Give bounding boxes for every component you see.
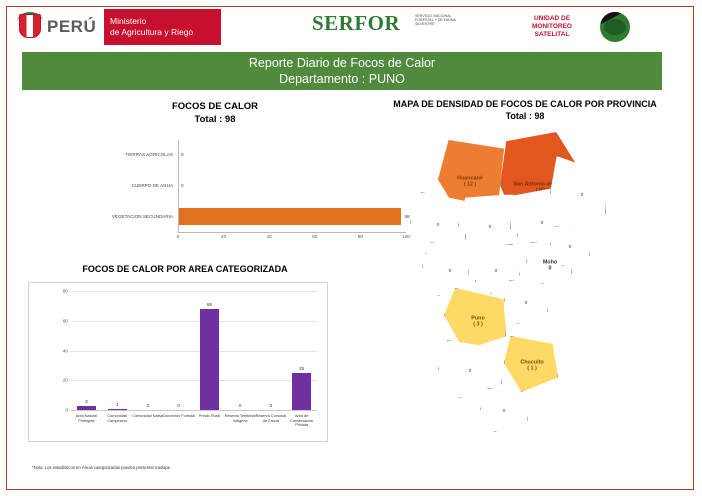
ministry-logo: Ministerio de Agricultura y Riego [104, 9, 221, 45]
map-province-value: 0 [503, 409, 506, 414]
chart2-category-label: Comunidad Campesina [100, 414, 134, 423]
map-province-label: 0 [489, 225, 492, 231]
chart2-y-tick: 60 [63, 318, 68, 323]
map-province-value: 0 [569, 245, 572, 250]
map-province-value: 0 [541, 221, 544, 226]
chart2-value-label: 1 [116, 402, 119, 407]
map-province-label: 0 [449, 269, 452, 275]
chart2-y-tick: 80 [63, 289, 68, 294]
chart2-value-label: 0 [147, 403, 150, 408]
serfor-wordmark: SERFOR [312, 11, 400, 35]
chart1-bar [178, 208, 401, 225]
chart2-gridline [71, 380, 317, 381]
report-subtitle: Departamento : PUNO [279, 71, 405, 87]
chart2-category-label: Area Natural Protegida [69, 414, 103, 423]
density-map: Huancané( 12 )San Antonio de Putina( 82 … [400, 130, 650, 460]
chart1-value-label: 0 [181, 183, 184, 188]
map-province-value: 0 [489, 225, 492, 230]
chart1-value-label: 0 [181, 152, 184, 157]
map-province-label: Puno( 3 ) [471, 316, 484, 327]
chart2-gridline [71, 351, 317, 352]
map-province-label: 0 [541, 221, 544, 227]
chart2-plot-area: 0204060803Area Natural Protegida1Comunid… [71, 291, 317, 410]
footnote: *Nota: Los estadísticos en Áreas categor… [32, 465, 170, 470]
peru-logo: PERÚ [17, 9, 105, 45]
serfor-tagline: SERVICIO NACIONAL FORESTAL Y DE FAUNA SI… [415, 14, 463, 27]
chart1-total: Total : 98 [105, 113, 325, 126]
map-province-value: 0 [549, 265, 552, 271]
chart1-category-label: TIERRAS AGRICOLAS [68, 152, 173, 157]
chart2-value-label: 0 [270, 403, 273, 408]
ministry-line-2: de Agricultura y Riego [110, 27, 221, 38]
chart2-value-label: 25 [299, 366, 304, 371]
globe-satellite-icon [600, 12, 630, 42]
map-province-value: 0 [581, 193, 584, 198]
map-province-label: 0 [437, 223, 440, 229]
chart1-title-block: FOCOS DE CALOR Total : 98 [105, 100, 325, 126]
chart-focos-de-calor: TIERRAS AGRICOLAS0CUERPO DE AGUA0VEGETAC… [62, 136, 347, 248]
chart2-gridline [71, 321, 317, 322]
chart1-plot-area: TIERRAS AGRICOLAS0CUERPO DE AGUA0VEGETAC… [178, 140, 406, 232]
map-province-value: 0 [469, 369, 472, 374]
map-province-value: ( 3 ) [473, 321, 483, 327]
chart2-y-tick: 20 [63, 378, 68, 383]
chart2-value-label: 68 [207, 302, 212, 307]
unit-line-2: MONITOREO [512, 23, 592, 31]
chart1-x-tick: 80 [358, 234, 363, 239]
unit-line-3: SATELITAL [512, 31, 592, 39]
chart2-category-label: Predio Rural [192, 414, 226, 419]
map-province-value: 0 [437, 223, 440, 228]
chart1-category-label: VEGETACION SECUNDARIA [68, 214, 173, 219]
chart1-x-axis [178, 232, 406, 233]
peru-wordmark: PERÚ [47, 17, 96, 37]
chart1-x-tick: 20 [221, 234, 226, 239]
peru-shield-icon [17, 12, 43, 42]
chart2-category-label: Comunidad Nativa [131, 414, 165, 419]
chart2-category-label: Reserva Comunal de Fauna [254, 414, 288, 423]
chart2-gridline [71, 291, 317, 292]
chart2-category-label: Area de Conservación Privada [285, 414, 319, 428]
map-province-label: 0 [569, 245, 572, 251]
chart1-title: FOCOS DE CALOR [105, 100, 325, 113]
chart1-y-axis [178, 140, 179, 232]
map-total: Total : 98 [360, 110, 690, 122]
chart2-bar [200, 309, 219, 410]
chart2-category-label: Concesión Forestal [162, 414, 196, 419]
report-header: PERÚ Ministerio de Agricultura y Riego S… [7, 7, 693, 47]
satellite-unit-logo: UNIDAD DE MONITOREO SATELITAL [512, 9, 692, 45]
chart2-value-label: 0 [177, 403, 180, 408]
map-province-value: 0 [525, 301, 528, 306]
map-province-label: Huancané( 12 ) [457, 176, 483, 187]
chart1-x-tick: 0 [177, 234, 180, 239]
chart2-title: FOCOS DE CALOR POR AREA CATEGORIZADA [40, 264, 330, 274]
chart2-y-tick: 0 [65, 408, 68, 413]
map-province-label: Moho0 [543, 260, 557, 271]
map-province-value: 0 [449, 269, 452, 274]
satellite-unit-text: UNIDAD DE MONITOREO SATELITAL [512, 15, 592, 39]
chart2-bar [292, 373, 311, 410]
chart-focos-por-area-categorizada: 0204060803Area Natural Protegida1Comunid… [28, 282, 328, 442]
map-title-block: MAPA DE DENSIDAD DE FOCOS DE CALOR POR P… [360, 98, 690, 122]
map-province-value: ( 12 ) [464, 181, 477, 187]
chart2-value-label: 0 [239, 403, 242, 408]
chart1-x-tick: 40 [267, 234, 272, 239]
map-province-label: 0 [495, 269, 498, 275]
report-title: Reporte Diario de Focos de Calor [249, 55, 435, 71]
map-province-label: Chucuito( 1 ) [520, 360, 543, 371]
chart1-x-tick: 60 [312, 234, 317, 239]
chart2-category-label: Reserva Territorial Indígena [223, 414, 257, 423]
chart2-x-axis [71, 410, 317, 411]
report-title-bar: Reporte Diario de Focos de Calor Departa… [22, 52, 662, 90]
map-province-label: 0 [503, 409, 506, 415]
map-province-value: 0 [495, 269, 498, 274]
map-province-value: ( 1 ) [527, 365, 537, 371]
map-province-label: 0 [469, 369, 472, 375]
serfor-logo: SERFOR SERVICIO NACIONAL FORESTAL Y DE F… [312, 11, 462, 43]
chart2-value-label: 3 [85, 399, 88, 404]
map-title: MAPA DE DENSIDAD DE FOCOS DE CALOR POR P… [360, 98, 690, 110]
map-province-label: 0 [581, 193, 584, 199]
map-province-label: 0 [525, 301, 528, 307]
unit-line-1: UNIDAD DE [512, 15, 592, 23]
chart2-y-tick: 40 [63, 348, 68, 353]
chart1-category-label: CUERPO DE AGUA [68, 183, 173, 188]
ministry-line-1: Ministerio [110, 16, 221, 27]
